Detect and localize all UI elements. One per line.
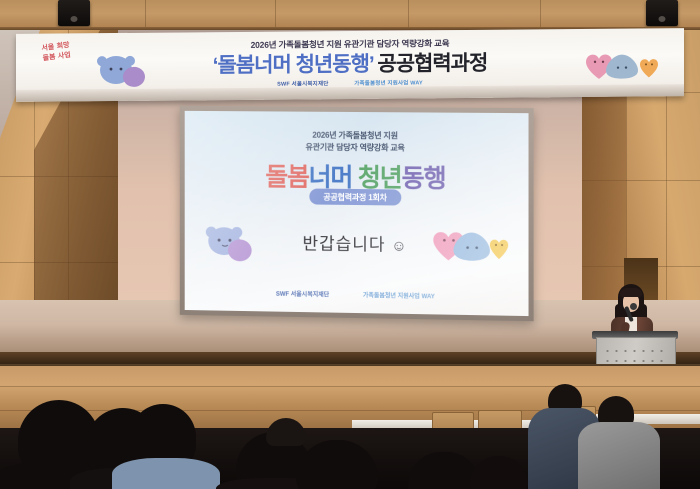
microphone-head-icon xyxy=(630,303,637,310)
slide-footer-logos: SWF 서울시복지재단 가족돌봄청년 지원사업 WAY xyxy=(185,287,529,302)
slide-logo-way: 가족돌봄청년 지원사업 WAY xyxy=(363,290,435,300)
slide-pretitle: 2026년 가족돌봄청년 지원 유관기관 담당자 역량강화 교육 xyxy=(185,129,529,156)
ceiling-panels xyxy=(0,0,700,30)
slide-title-part1: 돌봄 xyxy=(265,163,308,191)
banner-title-quoted: ‘돌봄너머 청년동행’ xyxy=(213,53,373,77)
banner-title: ‘돌봄너머 청년동행’ 공공협력과정 xyxy=(16,45,684,81)
slide-session-badge: 공공협력과정 1회차 xyxy=(309,189,401,206)
banner-title-plain: 공공협력과정 xyxy=(373,52,487,76)
banner-logo-way: 가족돌봄청년 지원사업 WAY xyxy=(354,78,423,87)
conference-photo-scene: 서울 희망돌봄 사업 2026년 가족돌봄청년 지원 유관기관 담당자 역량강화… xyxy=(0,0,700,489)
ceiling-speaker-right xyxy=(646,0,678,26)
slide-pretitle-line2: 유관기관 담당자 역량강화 교육 xyxy=(185,141,529,156)
event-banner: 서울 희망돌봄 사업 2026년 가족돌봄청년 지원 유관기관 담당자 역량강화… xyxy=(16,28,684,102)
speaker-bangs xyxy=(620,288,642,297)
ceiling-speaker-left xyxy=(58,0,90,26)
slide-greeting: 반갑습니다 ☺ xyxy=(185,228,529,258)
projection-screen: 2026년 가족돌봄청년 지원 유관기관 담당자 역량강화 교육 돌봄너머 청년… xyxy=(180,106,534,321)
slide-greeting-text: 반갑습니다 xyxy=(303,234,386,254)
smiley-face-icon: ☺ xyxy=(391,237,407,254)
slide-logo-swf: SWF 서울시복지재단 xyxy=(276,289,329,299)
presentation-slide: 2026년 가족돌봄청년 지원 유관기관 담당자 역량강화 교육 돌봄너머 청년… xyxy=(185,111,529,316)
banner-logo-swf: SWF 서울시복지재단 xyxy=(277,79,328,87)
slide-title-part4: 동행 xyxy=(402,164,446,193)
